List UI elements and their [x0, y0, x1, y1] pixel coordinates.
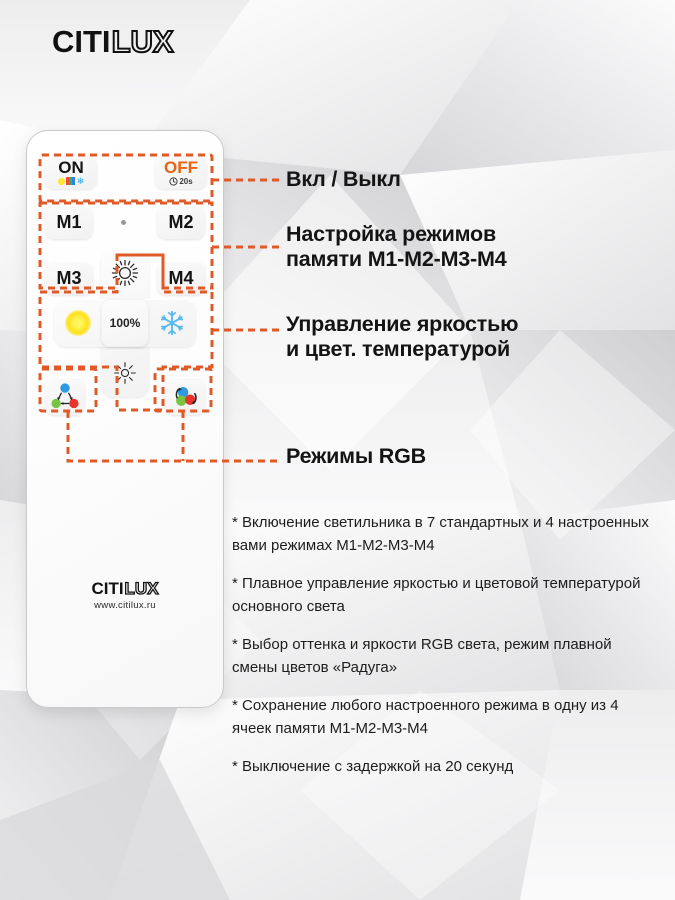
- warm-light-button[interactable]: [54, 299, 102, 347]
- callout-rgb-text: Режимы RGB: [286, 444, 426, 468]
- callout-memory: Настройка режимов памяти M1-M2-M3-M4: [286, 222, 506, 273]
- callout-rgb: Режимы RGB: [286, 444, 426, 469]
- dpad-control: 100%: [54, 249, 196, 397]
- rgb-color-select-icon: [50, 382, 80, 410]
- callout-memory-line2: памяти M1-M2-M3-M4: [286, 247, 506, 272]
- note-item: * Выбор оттенка и яркости RGB света, реж…: [232, 634, 656, 679]
- callout-power: Вкл / Выкл: [286, 167, 401, 192]
- remote-logo-outline: LUX: [125, 579, 159, 599]
- clock-icon: [169, 177, 178, 186]
- callout-memory-line1: Настройка режимов: [286, 222, 506, 247]
- rgb-rainbow-button[interactable]: [165, 377, 205, 415]
- cool-light-button[interactable]: [148, 299, 196, 347]
- rgb-rainbow-cycle-icon: [170, 382, 200, 410]
- note-item: * Включение светильника в 7 стандартных …: [232, 512, 656, 557]
- note-item: * Выключение с задержкой на 20 секунд: [232, 756, 656, 779]
- callout-brightness-line2: и цвет. температурой: [286, 337, 518, 362]
- power-off-label: OFF: [164, 159, 198, 176]
- notes-list: * Включение светильника в 7 стандартных …: [232, 512, 656, 779]
- snowflake-icon: ❄: [77, 177, 85, 185]
- brand-logo-outline: LUX: [112, 24, 174, 60]
- memory-button-m2[interactable]: M2: [157, 205, 205, 239]
- power-off-timer: 20s: [169, 177, 192, 186]
- cool-snowflake-icon: [158, 309, 186, 337]
- rgb-color-button[interactable]: [45, 377, 85, 415]
- brightness-100-label: 100%: [110, 316, 141, 330]
- brand-logo-bold: CITI: [52, 24, 111, 60]
- warm-dot-icon: [58, 178, 65, 185]
- note-item: * Плавное управление яркостью и цветовой…: [232, 573, 656, 618]
- note-item: * Сохранение любого настроенного режима …: [232, 695, 656, 740]
- rainbow-icon: [66, 177, 75, 185]
- brightness-down-icon: [111, 359, 139, 387]
- led-indicator: [121, 220, 126, 225]
- remote-logo-url: www.citilux.ru: [27, 600, 223, 611]
- power-off-timer-text: 20s: [179, 177, 192, 186]
- callout-brightness-line1: Управление яркостью: [286, 312, 518, 337]
- remote-control-body: ON ❄ OFF 20s M1 M2 M3 M4: [26, 130, 224, 708]
- brightness-up-icon: [110, 258, 140, 288]
- memory-m1-label: M1: [56, 213, 81, 231]
- power-off-button[interactable]: OFF 20s: [155, 155, 207, 189]
- power-on-icons: ❄: [58, 177, 85, 186]
- memory-m2-label: M2: [168, 213, 193, 231]
- brightness-up-button[interactable]: [101, 249, 149, 297]
- power-on-button[interactable]: ON ❄: [45, 155, 97, 189]
- remote-logo-bold: CITI: [91, 579, 123, 599]
- power-on-label: ON: [58, 159, 84, 176]
- memory-button-m1[interactable]: M1: [45, 205, 93, 239]
- callout-power-text: Вкл / Выкл: [286, 167, 401, 191]
- brand-logo: CITI LUX: [52, 24, 174, 60]
- callout-brightness: Управление яркостью и цвет. температурой: [286, 312, 518, 363]
- brightness-100-button[interactable]: 100%: [101, 299, 149, 347]
- warm-light-icon: [65, 310, 91, 336]
- brightness-down-button[interactable]: [101, 349, 149, 397]
- remote-footer-logo: CITILUX www.citilux.ru: [27, 579, 223, 611]
